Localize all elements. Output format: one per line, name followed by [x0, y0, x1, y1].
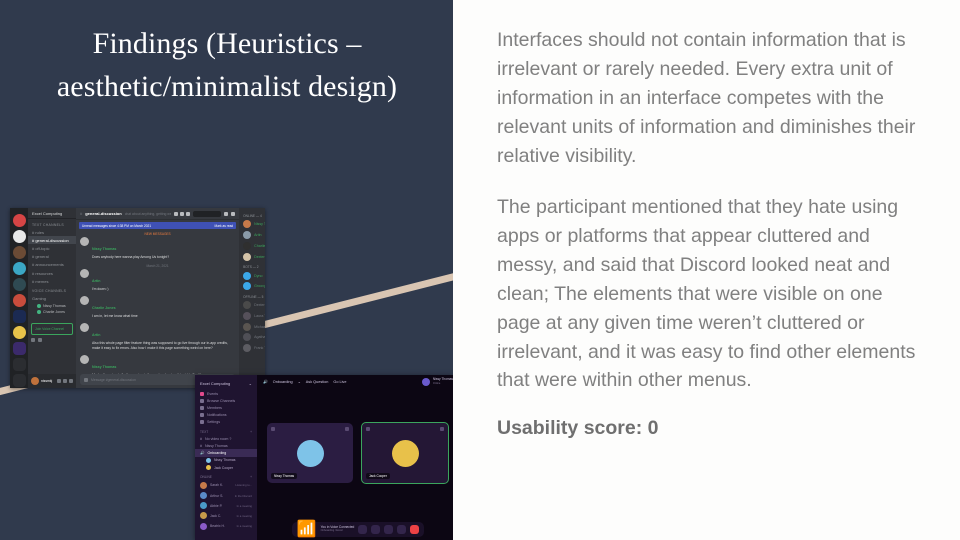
member-item[interactable]: Dexter Mathew	[239, 251, 265, 262]
member-item[interactable]: Artin	[239, 230, 265, 241]
message-item: Nissy Thomas Does anybody here wanna pla…	[80, 237, 235, 260]
avatar	[243, 282, 251, 290]
member-item[interactable]: Frank Tran	[239, 343, 265, 354]
participant-tile[interactable]: Nissy Thomas	[267, 423, 353, 483]
new-messages-divider: NEW MESSAGES	[76, 232, 239, 236]
voice-channel-item[interactable]	[28, 315, 76, 323]
message-item: Artin I'm down :)	[80, 269, 235, 292]
message-author[interactable]: Nissy Thomas	[92, 247, 116, 251]
server-name-label: Excel Computing	[200, 381, 230, 386]
message-item: Artin Also this whole page filter featur…	[80, 323, 235, 351]
server-icon[interactable]	[13, 246, 26, 259]
channel-sidebar: Excel Computing Text Channels # rules # …	[28, 208, 76, 388]
dm-status: In a meeting	[237, 514, 252, 518]
avatar	[206, 458, 211, 463]
dm-category[interactable]: Online +	[195, 471, 257, 480]
message-author[interactable]: Artin	[92, 333, 100, 337]
member-item[interactable]: Dexter J.	[239, 300, 265, 311]
avatar	[243, 220, 251, 228]
member-name: Agatha	[254, 335, 265, 339]
sidebar-item-browse-channels[interactable]: Browse Channels	[195, 397, 257, 404]
avatar[interactable]	[80, 355, 89, 364]
chat-main: # general-discussion chat about anything…	[76, 208, 239, 388]
server-icon[interactable]	[13, 310, 26, 323]
member-item-bot[interactable]: Dyno BOT	[239, 270, 265, 281]
online-dot-icon	[37, 310, 41, 314]
call-status: You in Voice ConnectedOnboarding / Excel	[321, 526, 355, 533]
member-list: Online — 4 Nissy Thomas Artin Charlie Jo…	[239, 208, 265, 388]
microphone-icon[interactable]	[57, 379, 61, 383]
page-title: Findings (Heuristics – aesthetic/minimal…	[12, 22, 442, 108]
avatar	[200, 492, 207, 499]
avatar	[200, 512, 207, 519]
sidebar-item-settings[interactable]: Settings	[195, 419, 257, 426]
sidebar-item-label: Members	[207, 406, 222, 410]
sidebar-item-label: Notifications	[207, 413, 227, 417]
chevron-down-icon[interactable]: ⌄	[298, 379, 301, 384]
member-name: Frank Tran	[254, 346, 265, 350]
presentation-slide: Findings (Heuristics – aesthetic/minimal…	[0, 0, 960, 540]
user-account-bar: nissmkj	[28, 374, 76, 388]
member-name: Dexter Mathew	[254, 255, 265, 259]
camera-icon[interactable]	[371, 525, 380, 534]
avatar	[243, 323, 251, 331]
avatar[interactable]	[80, 237, 89, 246]
member-name: Artin	[254, 233, 261, 237]
voice-participant-name: Nissy Thomas	[43, 304, 66, 308]
bell-icon[interactable]	[174, 212, 178, 216]
ask-question-button[interactable]: Ask Question	[306, 380, 329, 384]
member-category-offline: Offline — 5	[239, 292, 265, 300]
members-icon[interactable]	[186, 212, 190, 216]
call-header: 🔊 Onboarding ⌄ Ask Question Go Live Niss…	[257, 375, 453, 388]
avatar	[200, 523, 207, 530]
speaker-icon: 🔊	[263, 379, 268, 384]
account-status: Online	[433, 382, 453, 385]
text-category-label: Text	[200, 430, 208, 434]
avatar[interactable]	[80, 323, 89, 332]
avatar	[422, 378, 430, 386]
account-name: Nissy ThomasOnline	[433, 378, 453, 385]
member-name: Dexter J.	[254, 303, 265, 307]
channel-label: No video room ?	[205, 437, 231, 441]
events-icon	[200, 392, 204, 396]
online-dot-icon	[37, 304, 41, 308]
dm-item[interactable]: Abbie P. In a meeting	[195, 501, 257, 511]
member-category-online: Online — 4	[239, 211, 265, 219]
expand-icon[interactable]	[440, 427, 444, 431]
hash-icon: #	[200, 444, 202, 448]
screen-share-icon[interactable]	[384, 525, 393, 534]
channel-item[interactable]: # general	[28, 253, 76, 261]
dm-item[interactable]: Arthur S. In the Discord	[195, 490, 257, 500]
voice-participant-name: Jack Cooper	[214, 466, 233, 470]
channel-header-name: general-discussion	[85, 211, 121, 216]
dm-name: Beatrix H.	[210, 524, 234, 528]
dm-status: In a meeting	[237, 524, 252, 528]
microphone-icon[interactable]	[31, 338, 35, 342]
pin-icon[interactable]	[366, 427, 370, 431]
channel-item[interactable]: # resources	[28, 269, 76, 277]
channel-item[interactable]: # rules	[28, 228, 76, 236]
call-substatus: Onboarding / Excel	[321, 529, 355, 532]
server-icon[interactable]	[13, 214, 26, 227]
body-paragraph-2: The participant mentioned that they hate…	[497, 193, 918, 396]
sidebar-item-events[interactable]: Events	[195, 390, 257, 397]
server-icon[interactable]	[13, 326, 26, 339]
dm-status: In the Discord	[235, 494, 252, 498]
message-list: Nissy Thomas Does anybody here wanna pla…	[76, 237, 239, 374]
voice-participant-name: Charlie Jones	[43, 310, 65, 314]
sidebar-item-label: Settings	[207, 420, 220, 424]
dm-item[interactable]: Sarah K. Listening to...	[195, 480, 257, 490]
avatar	[243, 242, 251, 250]
message-item: Charlie Jones I am in, let me know what …	[80, 296, 235, 319]
avatar	[243, 253, 251, 261]
avatar[interactable]	[31, 377, 39, 385]
member-name: Charlie Jones	[254, 244, 265, 248]
sidebar-item-notifications[interactable]: Notifications	[195, 412, 257, 419]
dm-item[interactable]: Jack C. In a meeting	[195, 511, 257, 521]
pin-icon[interactable]	[271, 427, 275, 431]
call-controls: 📶 You in Voice ConnectedOnboarding / Exc…	[292, 522, 425, 537]
server-name[interactable]: Excel Computing ⌄	[195, 379, 257, 390]
more-options-icon[interactable]	[397, 525, 406, 534]
channel-item[interactable]: # announcements	[28, 261, 76, 269]
help-icon[interactable]	[231, 212, 235, 216]
server-icon[interactable]	[13, 262, 26, 275]
server-icon[interactable]	[13, 278, 26, 291]
call-header-channel: Onboarding	[273, 380, 293, 384]
call-control-bar: 📶 You in Voice ConnectedOnboarding / Exc…	[257, 518, 453, 540]
call-sidebar: Excel Computing ⌄ Events Browse Channels…	[195, 375, 257, 540]
dm-name: Arthur S.	[210, 494, 232, 498]
channel-item[interactable]: # memes	[28, 277, 76, 285]
server-icon[interactable]	[13, 294, 26, 307]
headset-icon[interactable]	[63, 379, 67, 383]
add-channel-icon[interactable]: +	[250, 430, 252, 434]
avatar	[392, 440, 419, 467]
channel-item[interactable]: # No video room ?	[195, 435, 257, 442]
message-text: I'm down :)	[92, 287, 235, 292]
members-icon	[200, 406, 204, 410]
hash-icon: #	[200, 437, 202, 441]
channel-item[interactable]: # off-topic	[28, 244, 76, 252]
call-main: 🔊 Onboarding ⌄ Ask Question Go Live Niss…	[257, 375, 453, 540]
avatar	[243, 312, 251, 320]
add-dm-icon[interactable]: +	[250, 475, 252, 479]
voice-participant[interactable]: Jack Cooper	[195, 464, 257, 471]
bell-icon	[200, 413, 204, 417]
member-name: Groovy	[254, 284, 265, 288]
usability-score: Usability score: 0	[497, 417, 918, 440]
body-paragraph-1: Interfaces should not contain informatio…	[497, 26, 918, 171]
member-item[interactable]: Michael Park	[239, 321, 265, 332]
member-name: Michael Park	[254, 325, 265, 329]
join-voice-button[interactable]: Join Voice Channel	[31, 323, 73, 335]
channel-label: Nissy Thomas	[205, 444, 228, 448]
participant-name: Nissy Thomas	[271, 473, 297, 479]
gear-icon[interactable]	[69, 379, 73, 383]
channel-item-active[interactable]: # general-discussion	[28, 236, 76, 244]
channel-topic: chat about anything, getting weird in he…	[125, 212, 171, 216]
dm-category-label: Online	[200, 475, 212, 479]
go-live-button[interactable]: Go Live	[333, 380, 346, 384]
search-input[interactable]	[193, 211, 221, 217]
member-category-bots: Bots — 2	[239, 262, 265, 270]
avatar	[206, 465, 211, 470]
message-author[interactable]: Nissy Thomas	[92, 365, 116, 369]
signal-icon: 📶	[297, 519, 317, 539]
member-name: Nissy Thomas	[254, 222, 265, 226]
message-text: Also this whole page filter feature thin…	[92, 341, 235, 351]
avatar[interactable]	[80, 296, 89, 305]
avatar	[200, 482, 207, 489]
message-item: Nissy Thomas Maybe I'm going to fix the …	[80, 355, 235, 374]
server-icon[interactable]	[13, 374, 26, 387]
right-text-panel: Interfaces should not contain informatio…	[453, 0, 960, 540]
server-name[interactable]: Excel Computing	[28, 208, 76, 219]
microphone-icon[interactable]	[358, 525, 367, 534]
voice-category[interactable]: Voice Channels	[28, 285, 76, 294]
dm-item[interactable]: Beatrix H. In a meeting	[195, 521, 257, 531]
pin-icon[interactable]	[180, 212, 184, 216]
avatar	[200, 502, 207, 509]
unread-banner[interactable]: Unread messages since 4:38 PM on March 2…	[79, 222, 236, 229]
server-icon-rail	[10, 208, 28, 388]
channel-header: # general-discussion chat about anything…	[76, 208, 239, 220]
avatar	[243, 231, 251, 239]
voice-participant[interactable]: Nissy Thomas	[195, 457, 257, 464]
discord-call-screenshot: Excel Computing ⌄ Events Browse Channels…	[195, 375, 453, 540]
channel-label: Onboarding	[207, 451, 226, 455]
avatar	[297, 440, 324, 467]
member-item[interactable]: Agatha	[239, 332, 265, 343]
mark-as-read-button[interactable]: Mark as read	[215, 224, 234, 228]
server-icon[interactable]	[13, 342, 26, 355]
header-icon-group	[174, 212, 190, 216]
dm-status: Listening to...	[235, 483, 252, 487]
avatar[interactable]	[80, 269, 89, 278]
member-item[interactable]: Laura Thomas	[239, 310, 265, 321]
inbox-icon[interactable]	[224, 212, 228, 216]
channel-category[interactable]: Text Channels	[28, 219, 76, 228]
member-item-bot[interactable]: Groovy BOT	[239, 281, 265, 292]
expand-icon[interactable]	[345, 427, 349, 431]
avatar	[243, 272, 251, 280]
unread-banner-text: Unread messages since 4:38 PM on March 2…	[82, 224, 151, 228]
avatar	[243, 301, 251, 309]
speaker-icon: 🔊	[200, 451, 204, 455]
message-author[interactable]: Charlie Jones	[92, 306, 116, 310]
sidebar-item-label: Events	[207, 392, 218, 396]
member-name: Dyno	[254, 274, 262, 278]
member-name: Laura Thomas	[254, 314, 265, 318]
member-item[interactable]: Nissy Thomas	[239, 219, 265, 230]
voice-channel-item[interactable]: Gaming	[28, 294, 76, 302]
day-separator: March 21, 2021	[80, 264, 235, 268]
avatar	[243, 333, 251, 341]
current-username: nissmkj	[41, 379, 55, 383]
dm-status: In a meeting	[237, 504, 252, 508]
dm-name: Abbie P.	[210, 504, 234, 508]
avatar	[243, 344, 251, 352]
account-widget[interactable]: Nissy ThomasOnline	[422, 378, 453, 386]
hangup-icon[interactable]	[410, 525, 419, 534]
message-input-placeholder: Message #general-discussion	[91, 378, 210, 382]
participant-name: Jack Cooper	[366, 473, 390, 479]
headset-icon[interactable]	[38, 338, 42, 342]
discord-chat-screenshot: Excel Computing Text Channels # rules # …	[10, 208, 265, 388]
participant-tiles: Nissy Thomas Jack Cooper	[257, 388, 453, 518]
chevron-down-icon[interactable]: ⌄	[249, 381, 252, 386]
server-icon[interactable]	[13, 358, 26, 371]
dm-name: Sarah K.	[210, 483, 232, 487]
message-text: Does anybody here wanna play Among Us to…	[92, 255, 235, 260]
voice-participant-name: Nissy Thomas	[214, 458, 235, 462]
sidebar-item-members[interactable]: Members	[195, 404, 257, 411]
text-category[interactable]: Text +	[195, 426, 257, 435]
voice-control-row	[28, 338, 76, 342]
hash-icon: #	[80, 211, 82, 216]
gear-icon	[200, 420, 204, 424]
dm-name: Jack C.	[210, 514, 234, 518]
server-icon[interactable]	[13, 230, 26, 243]
voice-channel-active[interactable]: 🔊 Onboarding	[195, 449, 257, 456]
browse-icon	[200, 399, 204, 403]
sidebar-item-label: Browse Channels	[207, 399, 235, 403]
message-author[interactable]: Artin	[92, 279, 100, 283]
participant-tile-speaking[interactable]: Jack Cooper	[361, 422, 449, 484]
left-dark-panel: Findings (Heuristics – aesthetic/minimal…	[0, 0, 453, 540]
add-attachment-icon[interactable]	[84, 378, 88, 382]
channel-item[interactable]: # Nissy Thomas	[195, 442, 257, 449]
member-item[interactable]: Charlie Jones	[239, 241, 265, 252]
message-text: I am in, let me know what time	[92, 314, 235, 319]
